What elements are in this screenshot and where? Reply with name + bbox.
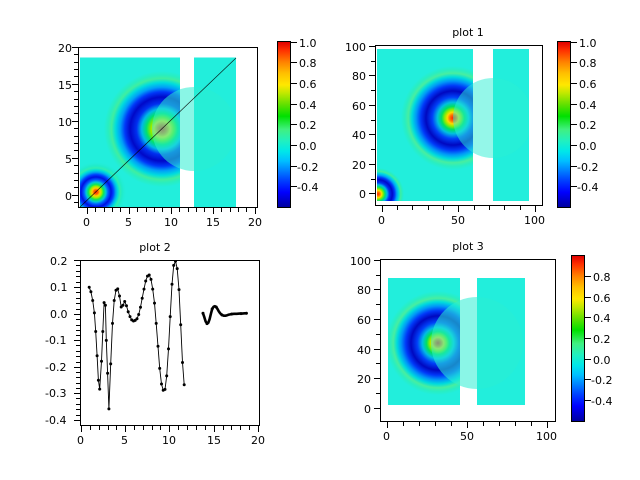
ytick-bl-minor-24	[76, 415, 80, 416]
xtick-tl-minor-13	[221, 208, 222, 212]
colorbar-top-right[interactable]	[557, 41, 571, 208]
xtick-bl-minor-12	[205, 426, 206, 430]
xtick-tr-minor-5	[474, 206, 475, 210]
ytick-label-br-20: 20	[357, 373, 371, 386]
xtick-tl-minor-10	[188, 208, 189, 212]
xtick-tl-minor-7	[154, 208, 155, 212]
ytick-br-minor-3	[376, 334, 380, 335]
ytick-label-bl-m01: -0.1	[45, 334, 66, 347]
xtick-tl-major-15	[213, 208, 214, 214]
cblabel-tl-7: -0.2	[297, 161, 318, 174]
ytick-tl-minor-17	[74, 202, 78, 203]
cbtick-tr-4	[571, 104, 577, 105]
ytick-label-bl-m04: -0.4	[45, 414, 66, 427]
heatmap-image-bottom-right	[381, 260, 555, 421]
cbtick-tl-5	[291, 124, 297, 125]
xtick-label-br-0: 0	[383, 430, 390, 443]
cbtick-br-4	[585, 338, 591, 339]
ytick-label-br-100: 100	[350, 255, 371, 268]
ytick-bl-minor-15	[76, 356, 80, 357]
cblabel-tr-2: 0.8	[579, 57, 597, 70]
panel-bottom-right: plot 3	[320, 240, 640, 480]
ytick-bl-minor-9	[76, 319, 80, 320]
xtick-bl-minor-7	[152, 426, 153, 430]
ytick-br-major-20	[374, 378, 380, 379]
xtick-tr-minor-1	[397, 206, 398, 210]
ytick-bl-minor-20	[76, 388, 80, 389]
xtick-br-minor-3	[435, 422, 436, 426]
cbtick-tr-2	[571, 62, 577, 63]
panel-title-top-right: plot 1	[418, 26, 518, 39]
cbtick-tr-3	[571, 83, 577, 84]
xtick-tl-major-10	[171, 208, 172, 214]
cblabel-tl-2: 0.8	[299, 57, 317, 70]
ytick-bl-minor-3	[76, 276, 80, 277]
heatmap-image-top-right	[376, 46, 542, 205]
xtick-label-bl-15: 15	[207, 434, 221, 447]
cbtick-tl-4	[291, 104, 297, 105]
xtick-bl-major-20	[258, 426, 259, 432]
xtick-tl-minor-6	[146, 208, 147, 212]
cbtick-br-2	[585, 297, 591, 298]
ytick-tr-minor-5	[371, 179, 375, 180]
xtick-bl-major-5	[125, 426, 126, 432]
xtick-bl-minor-4	[116, 426, 117, 430]
ytick-bl-major-3	[74, 314, 80, 315]
cbtick-tl-1	[291, 42, 297, 43]
xtick-br-major-100	[547, 422, 548, 428]
xtick-label-bl-5: 5	[121, 434, 128, 447]
ytick-label-tl-20: 20	[58, 42, 72, 55]
ytick-bl-minor-5	[76, 292, 80, 293]
cblabel-tl-6: 0.0	[299, 140, 317, 153]
ytick-label-bl-00: 0.0	[50, 308, 68, 321]
ytick-label-tl-10: 10	[58, 116, 72, 129]
ytick-bl-major-5	[74, 367, 80, 368]
xtick-label-tl-15: 15	[206, 216, 220, 229]
ytick-bl-minor-13	[76, 345, 80, 346]
ytick-tr-major-100	[369, 46, 375, 47]
xtick-bl-major-15	[214, 426, 215, 432]
ytick-label-tl-15: 15	[58, 79, 72, 92]
xtick-tr-minor-6	[489, 206, 490, 210]
ytick-label-bl-02: 0.2	[50, 255, 68, 268]
ytick-label-bl-m03: -0.3	[45, 387, 66, 400]
cblabel-br-7: -0.4	[591, 395, 612, 408]
cblabel-tl-8: -0.4	[297, 181, 318, 194]
panel-bottom-left: plot 2	[0, 240, 320, 480]
ytick-label-br-60: 60	[357, 314, 371, 327]
xtick-bl-minor-16	[249, 426, 250, 430]
ytick-tl-minor-14	[74, 173, 78, 174]
ytick-bl-minor-18	[76, 377, 80, 378]
xtick-tl-minor-14	[230, 208, 231, 212]
ytick-label-tr-80: 80	[352, 70, 366, 83]
ytick-label-tl-5: 5	[65, 153, 72, 166]
xtick-br-minor-7	[515, 422, 516, 426]
xtick-bl-minor-15	[240, 426, 241, 430]
xtick-label-tr-100: 100	[524, 214, 545, 227]
ytick-tl-major-20	[72, 47, 78, 48]
cbtick-br-1	[585, 276, 591, 277]
cbtick-tl-6	[291, 145, 297, 146]
cblabel-tr-3: 0.6	[579, 78, 597, 91]
ytick-tl-minor-5	[74, 91, 78, 92]
ytick-br-major-100	[374, 260, 380, 261]
xtick-label-tr-0: 0	[378, 214, 385, 227]
ytick-bl-minor-23	[76, 409, 80, 410]
xtick-tl-minor-2	[104, 208, 105, 212]
ytick-br-minor-1	[376, 275, 380, 276]
xtick-br-minor-1	[403, 422, 404, 426]
xtick-tr-minor-8	[520, 206, 521, 210]
xtick-br-major-50	[467, 422, 468, 428]
line-series-2	[203, 306, 246, 323]
xtick-br-major-0	[387, 422, 388, 428]
cblabel-tl-5: 0.2	[299, 119, 317, 132]
xtick-br-minor-6	[499, 422, 500, 426]
ytick-bl-minor-1	[76, 265, 80, 266]
ytick-tl-major-0	[72, 195, 78, 196]
xtick-bl-minor-6	[143, 426, 144, 430]
cbtick-tl-2	[291, 62, 297, 63]
ytick-tl-minor-2	[74, 62, 78, 63]
ytick-tl-minor-4	[74, 76, 78, 77]
ytick-tl-minor-3	[74, 69, 78, 70]
ytick-tl-minor-16	[74, 187, 78, 188]
cblabel-tr-8: -0.4	[577, 181, 598, 194]
ytick-bl-minor-12	[76, 335, 80, 336]
xtick-br-minor-2	[419, 422, 420, 426]
ytick-tr-major-0	[369, 193, 375, 194]
xtick-bl-minor-2	[99, 426, 100, 430]
ytick-br-major-0	[374, 408, 380, 409]
xtick-bl-minor-13	[223, 426, 224, 430]
ytick-tl-minor-6	[74, 99, 78, 100]
ytick-bl-major-2	[74, 287, 80, 288]
cblabel-br-6: -0.2	[591, 374, 612, 387]
ytick-bl-minor-4	[76, 282, 80, 283]
ytick-tr-major-20	[369, 164, 375, 165]
xtick-tl-minor-16	[246, 208, 247, 212]
ytick-br-minor-4	[376, 363, 380, 364]
cbtick-tr-1	[571, 42, 577, 43]
ytick-br-major-60	[374, 319, 380, 320]
xtick-tl-major-20	[255, 208, 256, 214]
cbtick-br-5	[585, 359, 591, 360]
ytick-bl-minor-19	[76, 383, 80, 384]
ytick-tl-minor-11	[74, 143, 78, 144]
lineplot-bottom-left	[80, 260, 260, 426]
ytick-tl-minor-15	[74, 180, 78, 181]
ytick-tr-minor-2	[371, 90, 375, 91]
xtick-bl-minor-8	[160, 426, 161, 430]
xtick-label-tl-20: 20	[248, 216, 262, 229]
xtick-label-tl-10: 10	[164, 216, 178, 229]
cblabel-br-5: 0.0	[593, 354, 611, 367]
xtick-tr-major-50	[458, 206, 459, 212]
panel-title-bottom-left: plot 2	[105, 241, 205, 254]
ytick-label-bl-m02: -0.2	[45, 361, 66, 374]
xtick-bl-minor-1	[90, 426, 91, 430]
cbtick-br-3	[585, 317, 591, 318]
ytick-tl-major-15	[72, 84, 78, 85]
xtick-label-bl-20: 20	[251, 434, 265, 447]
ytick-label-tr-40: 40	[352, 129, 366, 142]
ytick-bl-minor-21	[76, 398, 80, 399]
xtick-bl-minor-3	[108, 426, 109, 430]
ytick-label-bl-01: 0.1	[50, 281, 68, 294]
ytick-tr-minor-3	[371, 120, 375, 121]
ytick-bl-minor-10	[76, 325, 80, 326]
xtick-tr-minor-7	[504, 206, 505, 210]
ytick-br-minor-2	[376, 304, 380, 305]
xtick-tl-minor-8	[162, 208, 163, 212]
ytick-label-br-80: 80	[357, 284, 371, 297]
ytick-bl-major-7	[74, 420, 80, 421]
cbtick-tr-6	[571, 145, 577, 146]
xtick-tl-major-0	[87, 208, 88, 214]
xtick-label-tl-5: 5	[125, 216, 132, 229]
ytick-tl-minor-8	[74, 113, 78, 114]
cblabel-br-3: 0.4	[593, 312, 611, 325]
xtick-bl-minor-11	[196, 426, 197, 430]
ytick-label-tl-0: 0	[65, 190, 72, 203]
ytick-tl-minor-10	[74, 136, 78, 137]
xtick-label-br-100: 100	[536, 430, 557, 443]
ytick-tr-major-80	[369, 75, 375, 76]
line-series-1	[89, 261, 184, 409]
ytick-label-br-40: 40	[357, 344, 371, 357]
xtick-label-tr-50: 50	[451, 214, 465, 227]
ytick-tr-minor-4	[371, 149, 375, 150]
xtick-label-bl-10: 10	[162, 434, 176, 447]
panel-title-bottom-right: plot 3	[418, 240, 518, 253]
colorbar-bottom-right[interactable]	[571, 255, 585, 422]
xtick-bl-minor-9	[178, 426, 179, 430]
xtick-bl-major-10	[169, 426, 170, 432]
ytick-br-major-80	[374, 289, 380, 290]
ytick-bl-major-4	[74, 340, 80, 341]
ytick-label-tr-60: 60	[352, 100, 366, 113]
ytick-tr-minor-1	[371, 61, 375, 62]
ytick-br-major-40	[374, 349, 380, 350]
ytick-bl-minor-16	[76, 362, 80, 363]
ytick-tr-major-60	[369, 105, 375, 106]
xtick-br-minor-5	[483, 422, 484, 426]
xtick-bl-major-0	[81, 426, 82, 432]
xtick-tr-minor-4	[443, 206, 444, 210]
xtick-br-minor-4	[451, 422, 452, 426]
cblabel-br-1: 0.8	[593, 271, 611, 284]
xtick-tl-minor-1	[95, 208, 96, 212]
figure-canvas: 20 15 10 5 0	[0, 0, 640, 480]
xtick-label-br-50: 50	[460, 430, 474, 443]
cblabel-br-2: 0.6	[593, 292, 611, 305]
ytick-tr-major-40	[369, 134, 375, 135]
ytick-bl-minor-17	[76, 372, 80, 373]
xtick-tl-minor-11	[196, 208, 197, 212]
colorbar-top-left[interactable]	[277, 41, 291, 208]
cblabel-br-4: 0.2	[593, 333, 611, 346]
xtick-bl-minor-10	[187, 426, 188, 430]
ytick-bl-minor-2	[76, 271, 80, 272]
cbtick-tr-5	[571, 124, 577, 125]
cblabel-tl-4: 0.4	[299, 99, 317, 112]
xtick-tr-minor-3	[428, 206, 429, 210]
xtick-tl-minor-12	[204, 208, 205, 212]
cblabel-tr-5: 0.2	[579, 119, 597, 132]
panel-top-left: 20 15 10 5 0	[0, 0, 320, 240]
ytick-label-br-0: 0	[364, 403, 371, 416]
ytick-tl-major-10	[72, 121, 78, 122]
ytick-bl-minor-7	[76, 303, 80, 304]
ytick-tl-major-5	[72, 158, 78, 159]
ytick-tl-minor-7	[74, 106, 78, 107]
cblabel-tr-4: 0.4	[579, 99, 597, 112]
xtick-bl-minor-14	[231, 426, 232, 430]
cblabel-tr-1: 1.0	[579, 37, 597, 50]
xtick-tr-minor-2	[412, 206, 413, 210]
cblabel-tl-1: 1.0	[299, 37, 317, 50]
ytick-tl-minor-1	[74, 54, 78, 55]
xtick-br-minor-8	[531, 422, 532, 426]
ytick-bl-major-6	[74, 393, 80, 394]
ytick-bl-major-1	[74, 260, 80, 261]
ytick-label-tr-100: 100	[345, 41, 366, 54]
ytick-bl-minor-11	[76, 330, 80, 331]
xtick-label-tl-0: 0	[83, 216, 90, 229]
cblabel-tr-6: 0.0	[579, 140, 597, 153]
ytick-label-tr-0: 0	[359, 188, 366, 201]
ytick-tl-minor-12	[74, 150, 78, 151]
xtick-label-bl-0: 0	[77, 434, 84, 447]
xtick-tl-major-5	[129, 208, 130, 214]
xtick-bl-minor-5	[134, 426, 135, 430]
ytick-br-minor-5	[376, 393, 380, 394]
ytick-tl-minor-9	[74, 128, 78, 129]
ytick-label-tr-20: 20	[352, 159, 366, 172]
ytick-bl-minor-8	[76, 309, 80, 310]
xtick-tl-minor-5	[137, 208, 138, 212]
ytick-tl-minor-13	[74, 165, 78, 166]
ytick-bl-minor-22	[76, 404, 80, 405]
xtick-tl-minor-4	[120, 208, 121, 212]
ytick-bl-minor-14	[76, 351, 80, 352]
xtick-tl-minor-15	[238, 208, 239, 212]
xtick-tl-minor-9	[179, 208, 180, 212]
xtick-tr-major-0	[382, 206, 383, 212]
ytick-bl-minor-6	[76, 298, 80, 299]
panel-top-right: plot 1	[320, 0, 640, 240]
cblabel-tl-3: 0.6	[299, 78, 317, 91]
heatmap-image-top-left	[79, 48, 257, 207]
xtick-tr-major-100	[535, 206, 536, 212]
cbtick-tl-3	[291, 83, 297, 84]
xtick-tl-minor-3	[112, 208, 113, 212]
cblabel-tr-7: -0.2	[577, 161, 598, 174]
